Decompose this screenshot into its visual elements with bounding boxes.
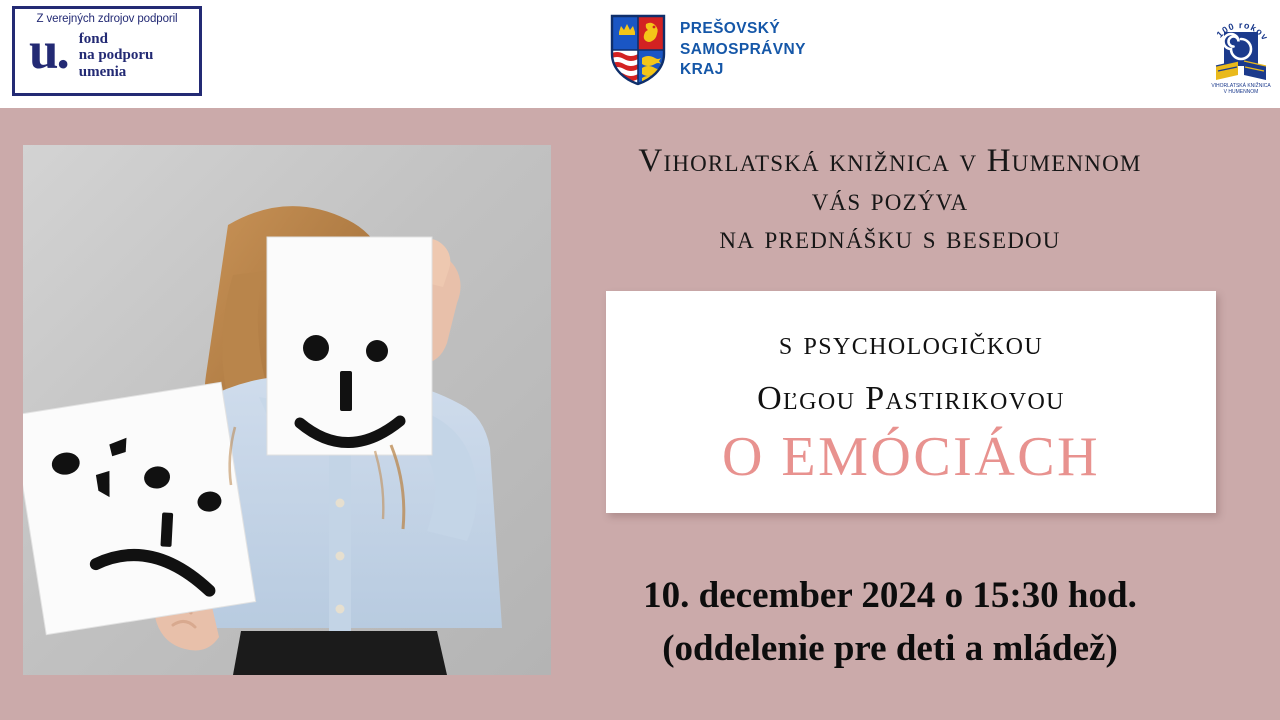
headline-line-3: na prednášku s besedou bbox=[560, 219, 1220, 258]
speaker-role: s psychologičkou bbox=[779, 323, 1043, 366]
library-spiral-book-icon: 100 rokov VIHORLATSKÁ KNIŽNICA V HUMENNO… bbox=[1210, 8, 1272, 94]
poster-canvas: Z verejných zdrojov podporil u. fond na … bbox=[0, 0, 1280, 720]
psk-logo: PREŠOVSKÝ SAMOSPRÁVNY KRAJ bbox=[610, 14, 806, 86]
fpu-logo-row: u. fond na podporu umenia bbox=[21, 27, 193, 81]
psk-coat-of-arms-icon bbox=[610, 14, 666, 86]
headline-line-1: Vihorlatská knižnica v Humennom bbox=[560, 142, 1220, 181]
event-details: 10. december 2024 o 15:30 hod. (oddeleni… bbox=[560, 570, 1220, 675]
photo-illustration bbox=[23, 145, 551, 675]
library-name-line2: V HUMENNOM bbox=[1224, 89, 1259, 94]
event-datetime: 10. december 2024 o 15:30 hod. bbox=[560, 570, 1220, 623]
speaker-card: s psychologičkou Oľgou Pastirikovou O EM… bbox=[606, 291, 1216, 513]
fpu-word-line2: na podporu bbox=[79, 47, 154, 64]
library-name-line1: VIHORLATSKÁ KNIŽNICA bbox=[1211, 81, 1271, 89]
psk-word-line3: KRAJ bbox=[680, 60, 806, 80]
event-title: O EMÓCIÁCH bbox=[722, 426, 1100, 489]
psk-word-line1: PREŠOVSKÝ bbox=[680, 19, 806, 39]
event-location: (oddelenie pre deti a mládež) bbox=[560, 623, 1220, 676]
headline: Vihorlatská knižnica v Humennom vás pozý… bbox=[560, 142, 1220, 258]
psk-wordmark: PREŠOVSKÝ SAMOSPRÁVNY KRAJ bbox=[680, 19, 806, 80]
fpu-wordmark: fond na podporu umenia bbox=[79, 31, 154, 81]
fpu-u-mark: u. bbox=[29, 27, 68, 76]
library-logo: 100 rokov VIHORLATSKÁ KNIŽNICA V HUMENNO… bbox=[1210, 8, 1272, 94]
event-photo bbox=[23, 145, 551, 675]
fpu-logo: Z verejných zdrojov podporil u. fond na … bbox=[12, 6, 202, 96]
speaker-name: Oľgou Pastirikovou bbox=[757, 378, 1065, 421]
psk-word-line2: SAMOSPRÁVNY bbox=[680, 40, 806, 60]
headline-line-2: vás pozýva bbox=[560, 181, 1220, 220]
happy-face-sheet bbox=[267, 237, 432, 455]
sad-face-sheet bbox=[23, 382, 256, 634]
fpu-word-line1: fond bbox=[79, 31, 154, 48]
logo-band: Z verejných zdrojov podporil u. fond na … bbox=[0, 0, 1280, 108]
fpu-word-line3: umenia bbox=[79, 64, 154, 81]
